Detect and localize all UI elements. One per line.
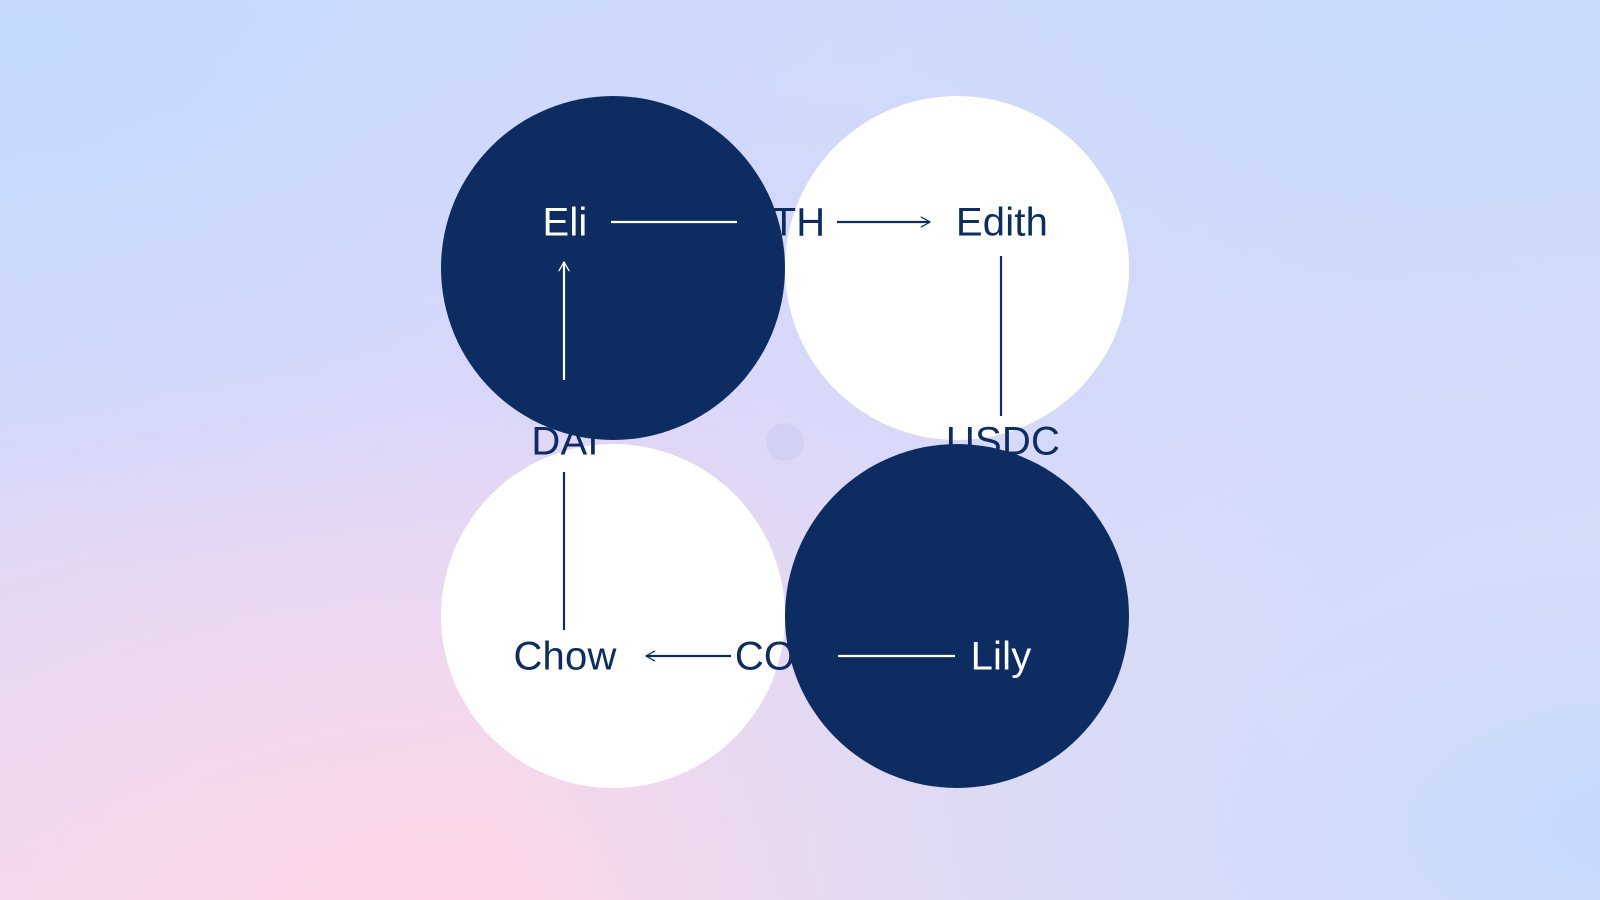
diagram-canvas: Eli ETH Edith DAI USDC Chow COW Lily [0, 0, 1600, 900]
node-label-chow[interactable]: Chow [513, 635, 616, 680]
node-label-edith[interactable]: Edith [956, 201, 1048, 246]
node-label-usdc[interactable]: USDC [946, 420, 1060, 465]
node-label-eth[interactable]: ETH [745, 201, 826, 246]
node-label-dai[interactable]: DAI [531, 420, 598, 465]
circle-bottom-left-chow[interactable] [441, 444, 785, 788]
center-dot[interactable] [766, 423, 804, 461]
node-label-lily[interactable]: Lily [971, 635, 1032, 680]
circle-bottom-right-lily[interactable] [785, 444, 1129, 788]
node-label-cow[interactable]: COW [735, 635, 833, 680]
venn-diagram [0, 0, 1600, 900]
circle-top-left-eli[interactable] [441, 96, 785, 440]
circle-top-right-edith[interactable] [785, 96, 1129, 440]
node-label-eli[interactable]: Eli [542, 201, 587, 246]
